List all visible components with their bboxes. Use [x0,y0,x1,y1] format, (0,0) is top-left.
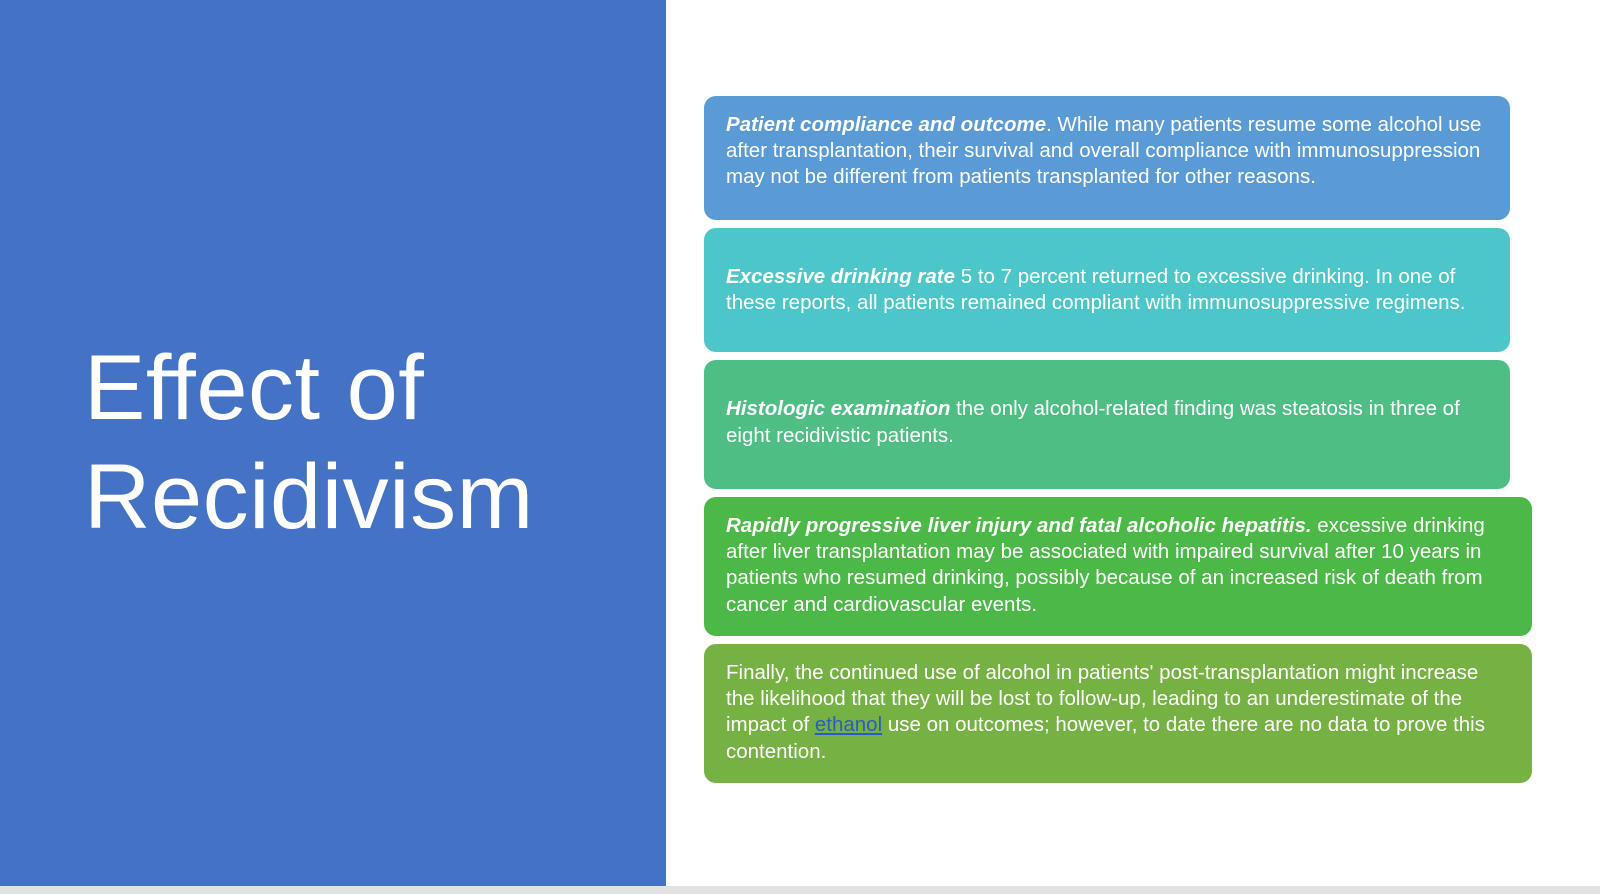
card-patient-compliance: Patient compliance and outcome. While ma… [704,96,1510,220]
title-panel: Effect of Recidivism [0,0,666,886]
card-text: Excessive drinking rate 5 to 7 percent r… [726,264,1488,316]
card-lead-in: Rapidly progressive liver injury and fat… [726,514,1312,537]
card-lead-in: Histologic examination [726,397,950,420]
card-lead-in: Excessive drinking rate [726,265,955,288]
card-text: Histologic examination the only alcohol-… [726,396,1488,448]
card-histologic-examination: Histologic examination the only alcohol-… [704,360,1510,488]
card-excessive-drinking-rate: Excessive drinking rate 5 to 7 percent r… [704,228,1510,352]
card-text: Finally, the continued use of alcohol in… [726,660,1510,765]
card-rapidly-progressive-liver-injury: Rapidly progressive liver injury and fat… [704,497,1532,636]
card-lead-in: Patient compliance and outcome [726,113,1046,136]
card-stack: Patient compliance and outcome. While ma… [704,96,1570,791]
card-text: Patient compliance and outcome. While ma… [726,112,1488,191]
page-title: Effect of Recidivism [0,334,594,551]
card-follow-up-contention: Finally, the continued use of alcohol in… [704,644,1532,783]
slide: Effect of Recidivism Patient compliance … [0,0,1600,894]
card-text: Rapidly progressive liver injury and fat… [726,513,1510,618]
ethanol-link[interactable]: ethanol [815,713,882,736]
footer-strip [0,886,1600,894]
content-area: Patient compliance and outcome. While ma… [666,0,1600,886]
